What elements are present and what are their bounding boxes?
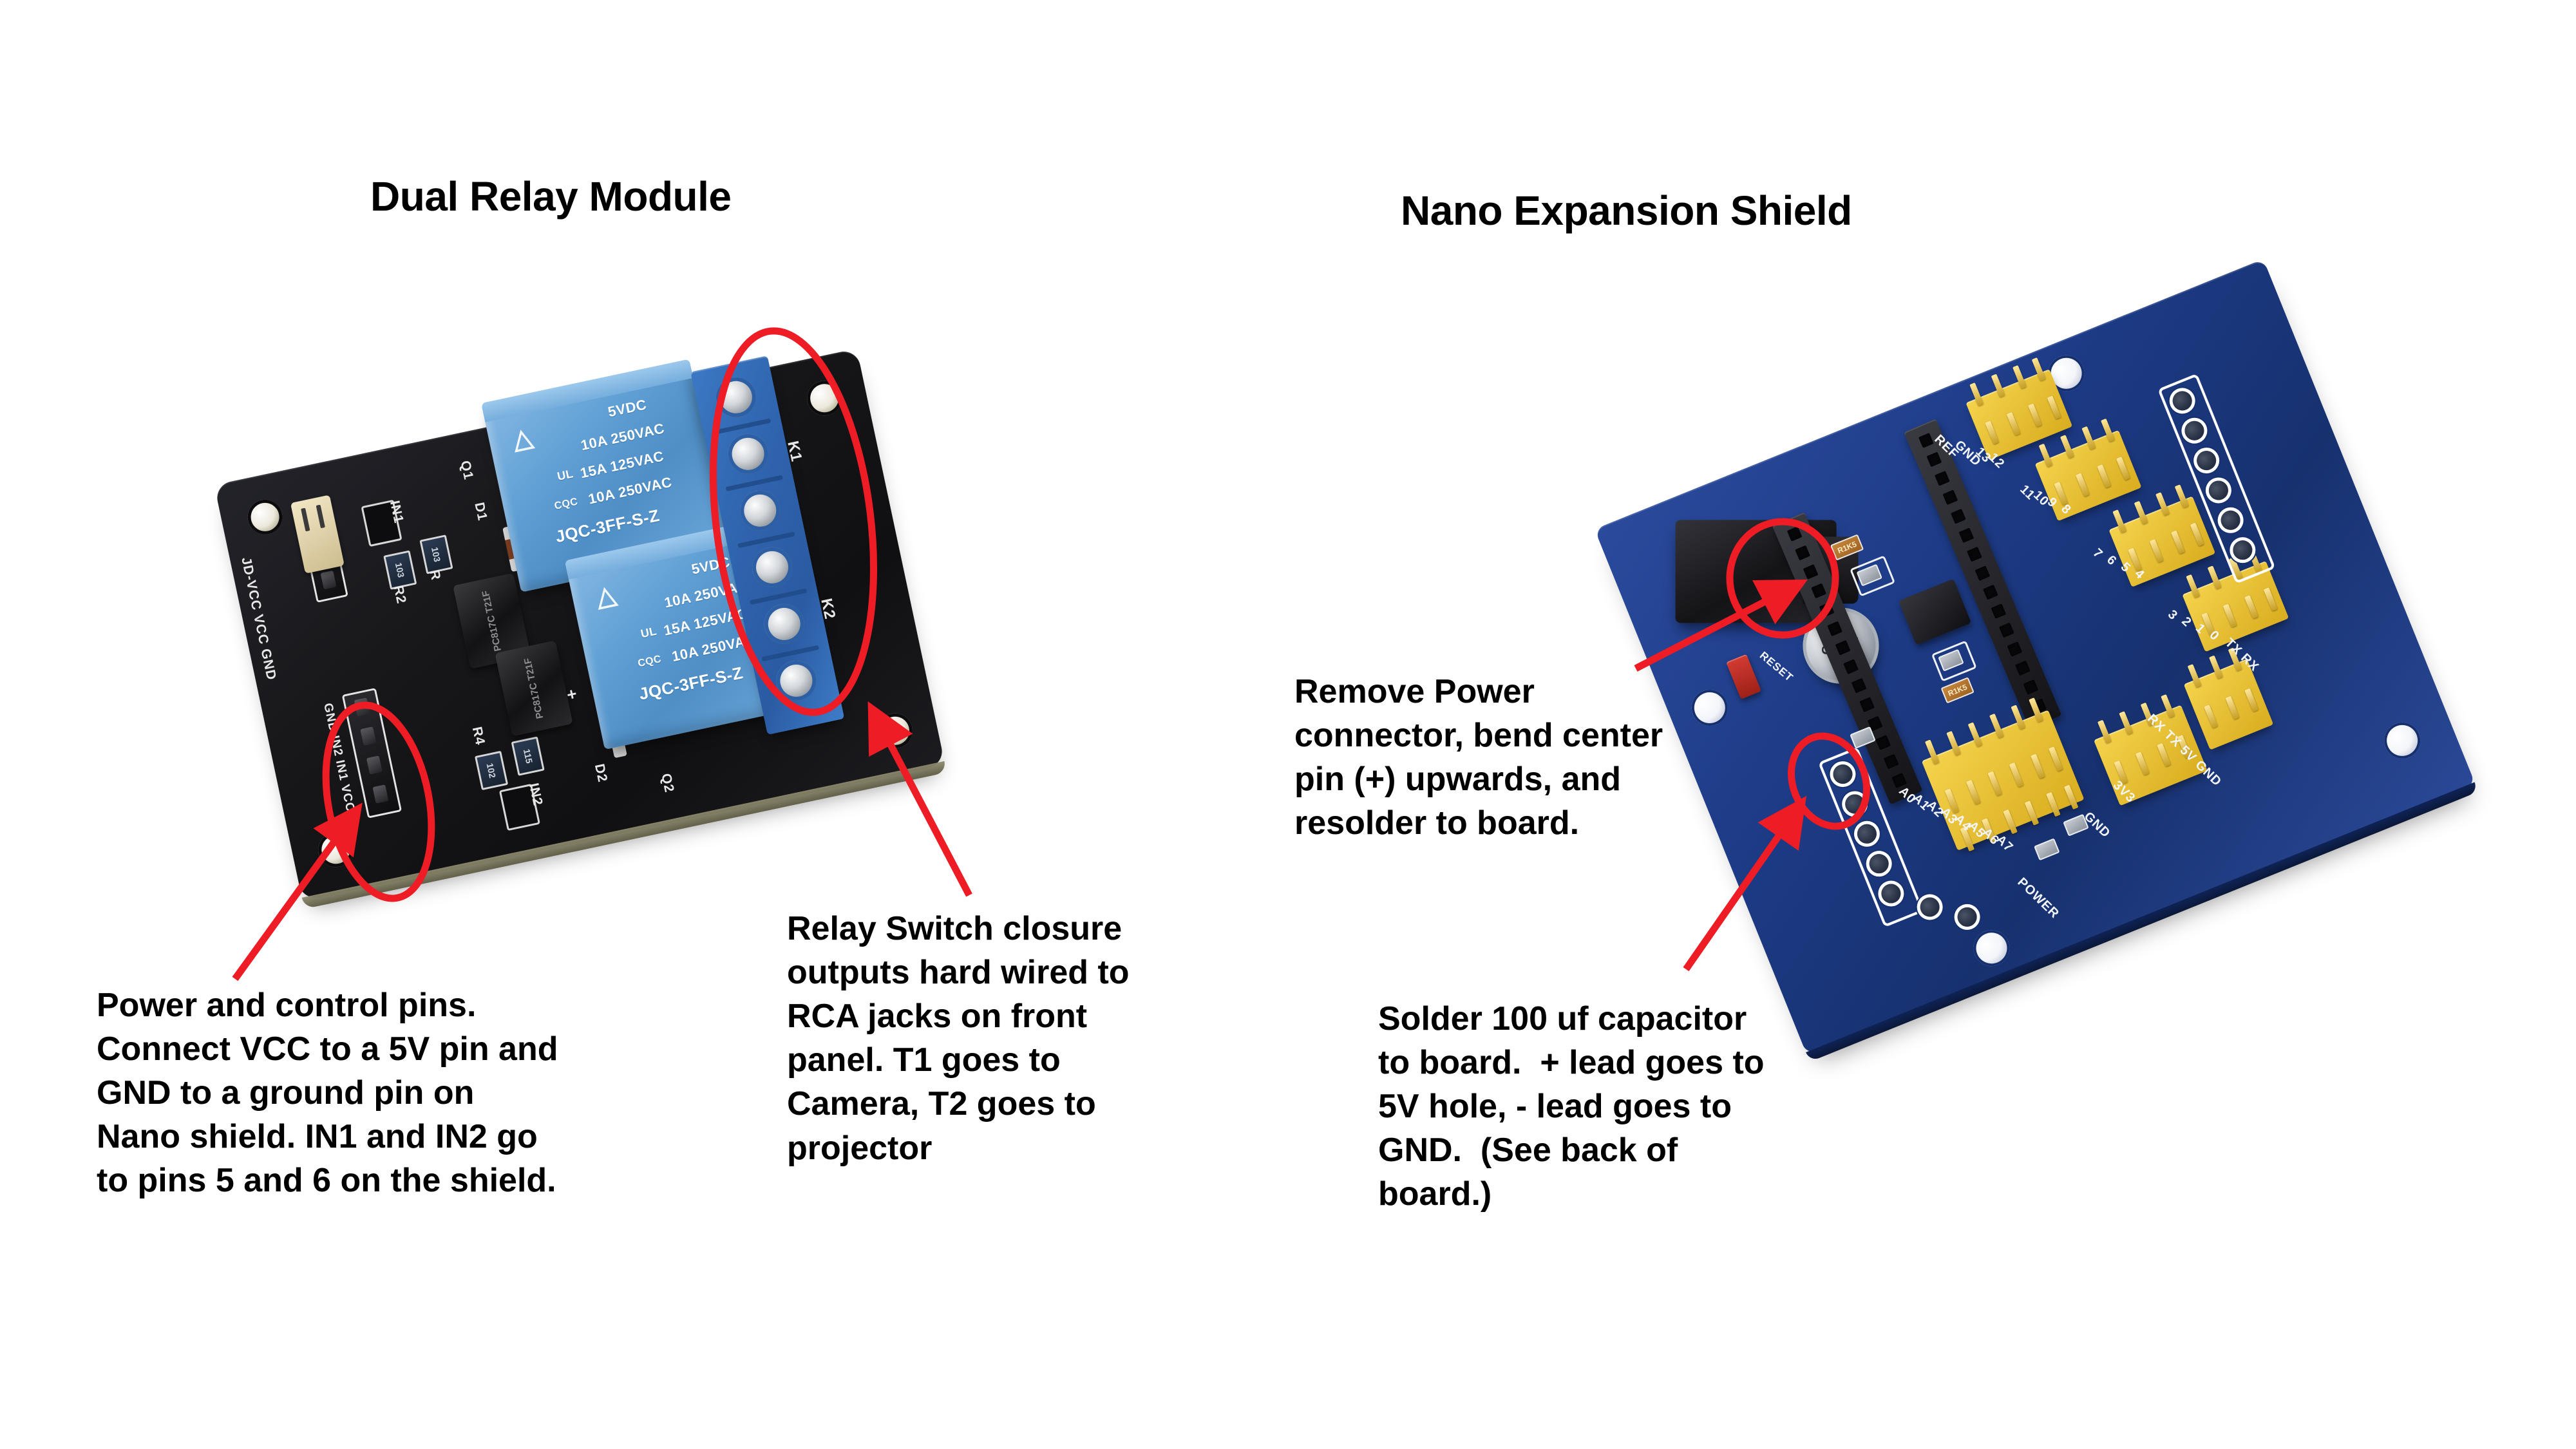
caption-line: outputs hard wired to: [787, 951, 1251, 994]
relay-cqc-mark: CQC: [637, 654, 663, 670]
caption-line: connector, bend center: [1294, 714, 1784, 757]
relay-part-number: JQC-3FF-S-Z: [637, 663, 744, 705]
page-title-dual-relay-module: Dual Relay Module: [370, 173, 732, 220]
nano-expansion-shield-photo: RESET CS 47 25V R1K5: [1578, 277, 2531, 1037]
caption-line: 5V hole, - lead goes to: [1378, 1084, 1874, 1128]
caption-line: RCA jacks on front: [787, 994, 1251, 1038]
relay-ul-mark: UL: [556, 467, 574, 484]
relay-ul-mark: UL: [639, 625, 658, 641]
caption-line: Connect VCC to a 5V pin and: [97, 1027, 715, 1071]
terminal-screw: [748, 544, 796, 591]
page-title-nano-expansion-shield: Nano Expansion Shield: [1401, 187, 1852, 234]
caption-line: Relay Switch closure: [787, 907, 1251, 951]
caption-line: GND. (See back of: [1378, 1128, 1874, 1172]
caption-line: Remove Power: [1294, 670, 1784, 714]
caption-line: to board. + lead goes to: [1378, 1041, 1874, 1084]
relay-cqc-mark: CQC: [553, 497, 579, 513]
caption-line: to pins 5 and 6 on the shield.: [97, 1159, 715, 1202]
relay-brand-logo: △: [510, 422, 536, 455]
caption-relay-switch-closure: Relay Switch closure outputs hard wired …: [787, 907, 1251, 1170]
caption-line: Camera, T2 goes to: [787, 1082, 1251, 1126]
caption-line: pin (+) upwards, and: [1294, 757, 1784, 801]
caption-line: Solder 100 uf capacitor: [1378, 997, 1874, 1041]
diagram-canvas: Dual Relay Module Nano Expansion Shield …: [0, 0, 2576, 1449]
terminal-screw: [773, 657, 820, 705]
caption-power-and-control-pins: Power and control pins. Connect VCC to a…: [97, 983, 715, 1203]
terminal-screw: [737, 487, 784, 535]
relay-brand-logo: △: [593, 580, 619, 612]
caption-line: projector: [787, 1126, 1251, 1170]
caption-solder-capacitor: Solder 100 uf capacitor to board. + lead…: [1378, 997, 1874, 1217]
caption-remove-power-connector: Remove Power connector, bend center pin …: [1294, 670, 1784, 845]
optocoupler-label: PC817C T21F: [480, 590, 504, 652]
relay-spec-line: 5VDC: [690, 554, 732, 578]
relay-spec-line: 5VDC: [607, 396, 649, 421]
caption-line: resolder to board.: [1294, 801, 1784, 845]
terminal-screw: [724, 430, 772, 478]
caption-line: panel. T1 goes to: [787, 1038, 1251, 1082]
caption-line: board.): [1378, 1172, 1874, 1216]
caption-line: Power and control pins.: [97, 983, 715, 1027]
relay-spec-line: 10A 250VAC: [670, 631, 757, 665]
terminal-screw: [712, 374, 760, 421]
caption-line: Nano shield. IN1 and IN2 go: [97, 1115, 715, 1159]
terminal-screw: [761, 600, 808, 648]
shield-board: RESET CS 47 25V R1K5: [1595, 259, 2476, 1054]
relay-spec-line: 10A 250VAC: [587, 474, 674, 508]
relay-top-face: [481, 359, 693, 422]
optocoupler-label: PC817C T21F: [522, 657, 546, 719]
dual-relay-module-photo: JD-VCC VCC GND GND IN2 IN1 VCC IN1 IN2 1…: [193, 335, 985, 914]
relay-part-number: JQC-3FF-S-Z: [554, 506, 661, 547]
relay-board: JD-VCC VCC GND GND IN2 IN1 VCC IN1 IN2 1…: [214, 348, 945, 901]
caption-line: GND to a ground pin on: [97, 1071, 715, 1115]
